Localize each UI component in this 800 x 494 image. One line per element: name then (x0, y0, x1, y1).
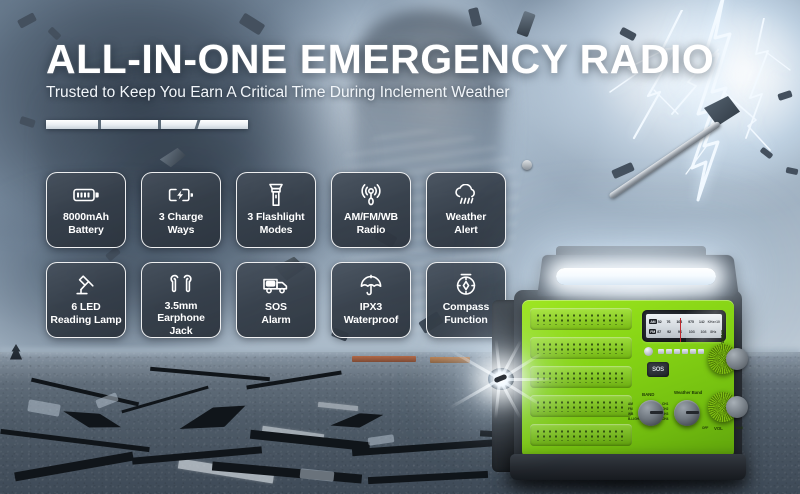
emergency-radio-product: AM 52 76 108 975 142 KHz×10 FM 87 92 96 … (452, 196, 800, 494)
sos-truck-icon: SOS (261, 272, 291, 298)
feature-label: 3.5mmEarphone Jack (142, 300, 220, 338)
feature-label: IPX3Waterproof (341, 301, 402, 326)
dial-needle (680, 318, 681, 342)
volume-marks-max: MAX (736, 426, 743, 431)
indicator-pip (658, 349, 664, 354)
feature-label: 3 ChargeWays (156, 211, 206, 236)
status-led (644, 347, 653, 356)
desk-lamp-icon (71, 272, 101, 298)
feature-badge-charge-ways[interactable]: 3 ChargeWays (141, 172, 221, 248)
product-banner: ALL-IN-ONE EMERGENCY RADIO Trusted to Ke… (0, 0, 800, 494)
am-band-label: AM (649, 319, 657, 324)
antenna-tip (522, 160, 532, 170)
feature-label: 3 FlashlightModes (244, 211, 307, 236)
svg-text:SOS: SOS (267, 282, 275, 286)
feature-badge-battery[interactable]: 8000mAhBattery (46, 172, 126, 248)
indicator-pip (682, 349, 688, 354)
feature-badge-flashlight[interactable]: 3 FlashlightModes (236, 172, 316, 248)
indicator-pip (690, 349, 696, 354)
battery-icon (71, 182, 101, 208)
indicator-pip (698, 349, 704, 354)
distant-barrier (352, 356, 416, 362)
volume-knob-cap[interactable] (726, 396, 748, 418)
led-light-bar (556, 268, 716, 285)
indicator-pip (666, 349, 672, 354)
volume-knob-label: VOL (714, 426, 723, 431)
charging-icon (166, 182, 196, 208)
feature-badge-sos-alarm[interactable]: SOS SOSAlarm (236, 262, 316, 338)
feature-label: 6 LEDReading Lamp (47, 301, 124, 326)
fm-band-label: FM (649, 329, 656, 334)
weather-band-knob-label: Weather Band (674, 390, 702, 395)
feature-badge-grid: 8000mAhBattery 3 ChargeWays (46, 172, 506, 338)
tuning-knob-cap[interactable] (726, 348, 748, 370)
band-selector-knob[interactable] (638, 400, 664, 426)
radio-base (510, 454, 746, 480)
indicator-pip (674, 349, 680, 354)
feature-badge-earphone-jack[interactable]: 3.5mmEarphone Jack (141, 262, 221, 338)
title-divider (46, 120, 248, 129)
sos-button-label: SOS (652, 367, 664, 373)
lightning-bolt-right (744, 18, 800, 148)
umbrella-icon (356, 272, 386, 298)
feature-label: SOSAlarm (258, 301, 293, 326)
radio-wave-icon (356, 182, 386, 208)
feature-badge-reading-lamp[interactable]: 6 LEDReading Lamp (46, 262, 126, 338)
page-subtitle: Trusted to Keep You Earn A Critical Time… (46, 84, 510, 102)
feature-label: 8000mAhBattery (60, 211, 112, 236)
flashlight-icon (261, 182, 291, 208)
earbuds-icon (166, 272, 196, 297)
band-knob-label: BAND (642, 392, 654, 397)
feature-badge-radio[interactable]: AM/FM/WBRadio (331, 172, 411, 248)
tuning-dial-display: AM 52 76 108 975 142 KHz×10 FM 87 92 96 … (642, 310, 726, 342)
feature-label: AM/FM/WBRadio (341, 211, 401, 236)
sos-button[interactable]: SOS (647, 362, 669, 377)
feature-badge-waterproof[interactable]: IPX3Waterproof (331, 262, 411, 338)
weather-band-knob[interactable] (674, 400, 700, 426)
volume-marks: OFF (702, 426, 708, 431)
page-title: ALL-IN-ONE EMERGENCY RADIO (46, 36, 714, 83)
